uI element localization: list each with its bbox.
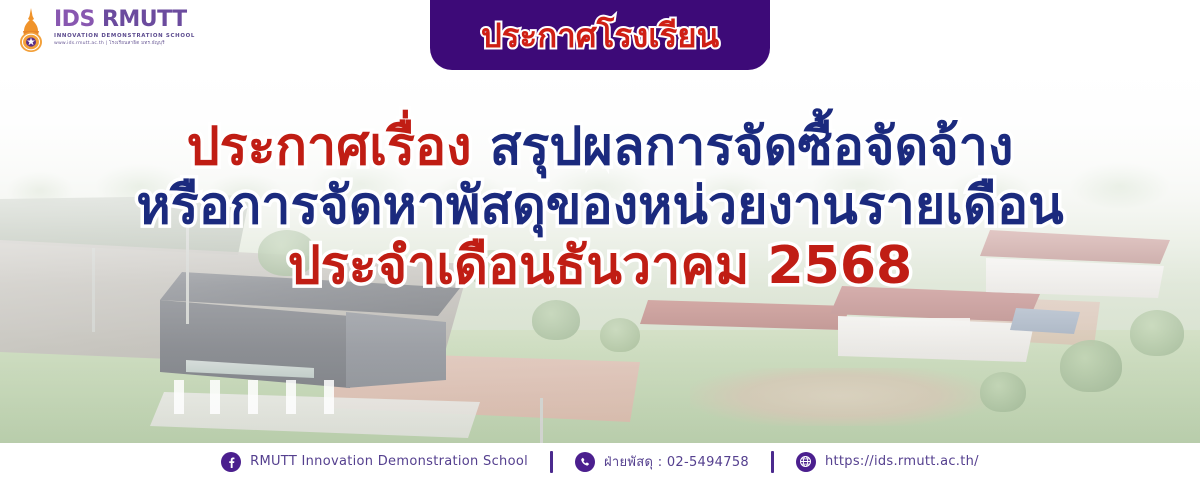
logo-wordmark: IDS RMUTT INNOVATION DEMONSTRATION SCHOO… xyxy=(54,7,195,47)
headline-block: ประกาศเรื่อง สรุปผลการจัดซื้อจัดจ้าง หรื… xyxy=(0,118,1200,296)
announcement-badge-label: ประกาศโรงเรียน xyxy=(481,13,719,52)
announcement-badge: ประกาศโรงเรียน xyxy=(430,0,770,70)
logo-title-ids: IDS xyxy=(54,7,95,32)
announcement-banner: IDS RMUTT INNOVATION DEMONSTRATION SCHOO… xyxy=(0,0,1200,480)
facebook-icon xyxy=(221,452,241,472)
logo-subtitle: INNOVATION DEMONSTRATION SCHOOL xyxy=(54,33,195,39)
footer-label-phone: ฝ่ายพัสดุ : 02-5494758 xyxy=(604,451,749,472)
logo-url-line: www.ids.rmutt.ac.th | โรงเรียนสาธิต มทร.… xyxy=(54,40,195,47)
footer-separator xyxy=(771,451,774,473)
logo-title-rmutt: RMUTT xyxy=(95,7,187,32)
headline-line-1-navy: สรุปผลการจัดซื้อจัดจ้าง xyxy=(490,117,1014,177)
phone-icon xyxy=(575,452,595,472)
footer-label-website: https://ids.rmutt.ac.th/ xyxy=(825,454,979,469)
rmutt-emblem-icon xyxy=(14,7,48,53)
footer-item-facebook[interactable]: RMUTT Innovation Demonstration School xyxy=(221,452,528,472)
ids-rmutt-logo: IDS RMUTT INNOVATION DEMONSTRATION SCHOO… xyxy=(14,7,195,53)
footer-separator xyxy=(550,451,553,473)
contact-footer: RMUTT Innovation Demonstration School ฝ่… xyxy=(0,443,1200,480)
footer-item-phone[interactable]: ฝ่ายพัสดุ : 02-5494758 xyxy=(575,451,749,472)
headline-line-1-red: ประกาศเรื่อง xyxy=(187,117,472,177)
footer-label-facebook: RMUTT Innovation Demonstration School xyxy=(250,454,528,469)
globe-icon xyxy=(796,452,816,472)
headline-line-2: หรือการจัดหาพัสดุของหน่วยงานรายเดือน xyxy=(0,177,1200,236)
logo-title: IDS RMUTT xyxy=(54,9,195,31)
footer-item-website[interactable]: https://ids.rmutt.ac.th/ xyxy=(796,452,979,472)
headline-line-3: ประจำเดือนธันวาคม 2568 xyxy=(0,237,1200,296)
headline-line-1: ประกาศเรื่อง สรุปผลการจัดซื้อจัดจ้าง xyxy=(0,118,1200,177)
